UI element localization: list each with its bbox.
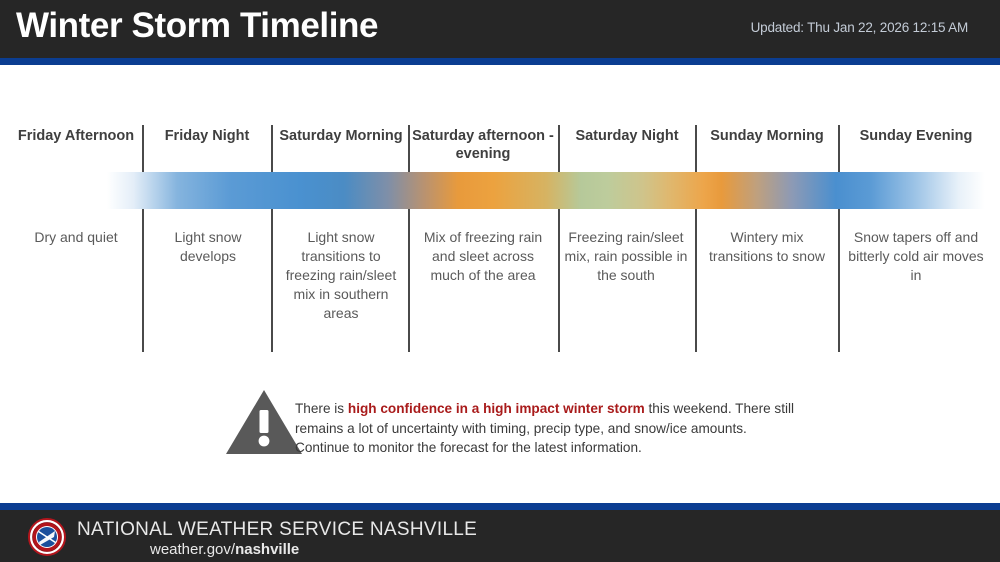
- warning-callout: There is high confidence in a high impac…: [225, 388, 845, 468]
- nws-seal-icon: [28, 518, 66, 556]
- timeline-header-saturday-afternoon-evening: Saturday afternoon - evening: [412, 127, 554, 163]
- warning-message: There is high confidence in a high impac…: [295, 399, 805, 458]
- timeline-header-sunday-morning: Sunday Morning: [699, 127, 835, 145]
- precipitation-gradient-bar: [107, 172, 985, 209]
- warning-text-before: There is: [295, 401, 348, 416]
- timeline-header-sunday-evening: Sunday Evening: [842, 127, 990, 145]
- timeline-body-sunday-evening: Snow tapers off and bitterly cold air mo…: [842, 228, 990, 285]
- timeline-body-saturday-morning: Light snow transitions to freezing rain/…: [277, 228, 405, 323]
- warning-triangle-icon: [225, 388, 303, 456]
- timeline-header-friday-afternoon: Friday Afternoon: [10, 127, 142, 145]
- header-accent-stripe: [0, 58, 1000, 65]
- footer-agency-name: NATIONAL WEATHER SERVICE NASHVILLE: [77, 519, 477, 541]
- timeline-body-friday-night: Light snow develops: [150, 228, 266, 266]
- updated-timestamp: Updated: Thu Jan 22, 2026 12:15 AM: [751, 20, 968, 35]
- footer-url-prefix: weather.gov/: [150, 541, 235, 558]
- timeline-body-sunday-morning: Wintery mix transitions to snow: [697, 228, 837, 266]
- footer-accent-stripe: [0, 503, 1000, 510]
- storm-timeline: Friday Afternoon Friday Night Saturday M…: [0, 65, 1000, 377]
- column-divider: [838, 125, 840, 352]
- column-divider: [408, 125, 410, 352]
- warning-text-emphasis: high confidence in a high impact winter …: [348, 401, 645, 416]
- timeline-header-friday-night: Friday Night: [146, 127, 268, 145]
- timeline-body-saturday-night: Freezing rain/sleet mix, rain possible i…: [560, 228, 692, 285]
- footer-url: weather.gov/nashville: [150, 541, 299, 558]
- page-title: Winter Storm Timeline: [16, 6, 378, 46]
- column-divider: [271, 125, 273, 352]
- timeline-body-saturday-afternoon-evening: Mix of freezing rain and sleet across mu…: [418, 228, 548, 285]
- timeline-body-friday-afternoon: Dry and quiet: [10, 228, 142, 247]
- footer-url-suffix: nashville: [235, 541, 299, 558]
- timeline-header-saturday-night: Saturday Night: [562, 127, 692, 145]
- column-divider: [142, 125, 144, 352]
- timeline-header-saturday-morning: Saturday Morning: [277, 127, 405, 145]
